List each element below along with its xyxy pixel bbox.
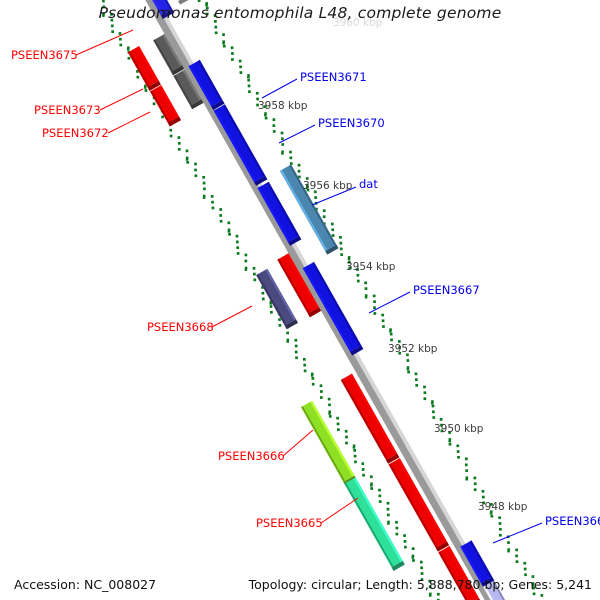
gene-label-pseen3672[interactable]: PSEEN3672 xyxy=(42,128,109,140)
gene-features-group[interactable] xyxy=(112,0,516,600)
gene-feature[interactable] xyxy=(128,46,161,91)
gene-label-pseen3666[interactable]: PSEEN3666 xyxy=(218,451,285,463)
leader-line xyxy=(262,79,297,98)
accession-text: Accession: NC_008027 xyxy=(14,577,156,592)
leader-line xyxy=(108,112,150,133)
scale-tick-label: 3954 kbp xyxy=(346,262,395,273)
scale-tick-label: 3960 kbp xyxy=(333,18,382,29)
leader-line xyxy=(279,125,315,143)
gene-feature[interactable] xyxy=(214,104,268,185)
gene-label-pseen3668[interactable]: PSEEN3668 xyxy=(147,322,214,334)
leader-line xyxy=(321,498,358,523)
footer-bar: Accession: NC_008027 Topology: circular;… xyxy=(0,574,600,600)
gene-label-pseen3663[interactable]: PSEEN3663 xyxy=(545,516,600,528)
leader-line xyxy=(76,30,133,55)
gene-label-dat[interactable]: dat xyxy=(359,179,378,191)
leader-line xyxy=(283,430,313,456)
gene-label-pseen3671[interactable]: PSEEN3671 xyxy=(300,72,367,84)
gene-label-pseen3665[interactable]: PSEEN3665 xyxy=(256,518,323,530)
leader-line xyxy=(100,89,143,110)
leader-line xyxy=(493,523,542,543)
leader-line xyxy=(212,306,252,327)
gene-label-pseen3675[interactable]: PSEEN3675 xyxy=(11,50,78,62)
scale-tick-label: 3950 kbp xyxy=(434,424,483,435)
gene-feature[interactable] xyxy=(150,85,181,126)
genome-stats-text: Topology: circular; Length: 5,888,780 bp… xyxy=(249,577,592,592)
gene-label-pseen3667[interactable]: PSEEN3667 xyxy=(413,285,480,297)
scale-tick-label: 3958 kbp xyxy=(258,101,307,112)
scale-tick-label: 3956 kbp xyxy=(303,181,352,192)
gene-feature[interactable] xyxy=(344,477,405,571)
genome-map-viewer[interactable]: 3960 kbp3958 kbp3956 kbp3954 kbp3952 kbp… xyxy=(0,0,600,600)
gene-label-pseen3670[interactable]: PSEEN3670 xyxy=(318,118,385,130)
scale-tick-label: 3948 kbp xyxy=(478,502,527,513)
scale-tick-label: 3952 kbp xyxy=(388,344,437,355)
gene-label-pseen3673[interactable]: PSEEN3673 xyxy=(34,105,101,117)
